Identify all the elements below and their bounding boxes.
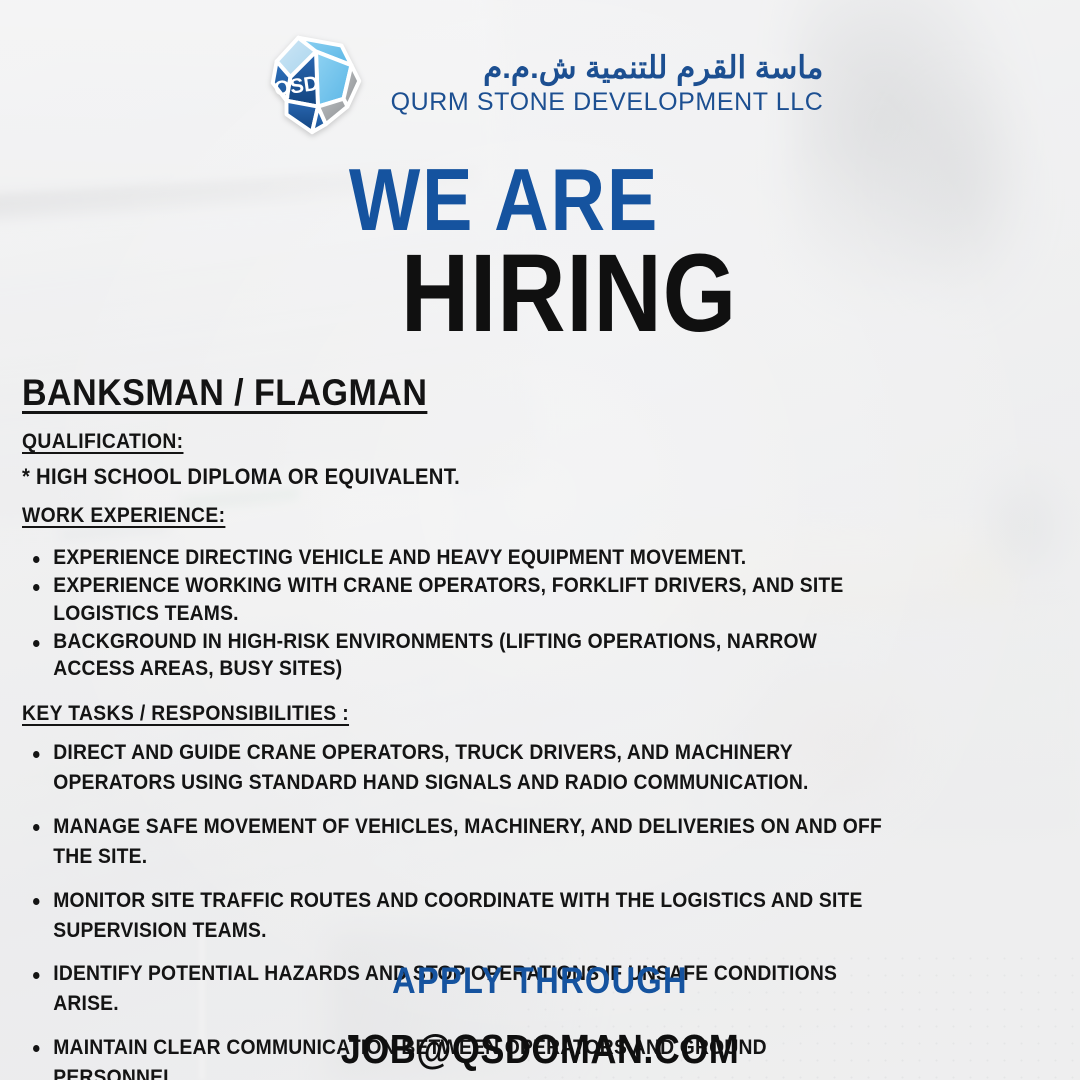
qualification-heading: QUALIFICATION: [22, 430, 892, 454]
qualification-item: * HIGH SCHOOL DIPLOMA OR EQUIVALENT. [22, 464, 892, 490]
apply-through-label: APPLY THROUGH [65, 962, 1015, 999]
headline: WE ARE HIRING [0, 160, 1080, 344]
apply-section: APPLY THROUGH JOB@QSDOMAN.COM [0, 962, 1080, 1070]
gem-logo-icon: QSD [257, 22, 375, 140]
list-item: MANAGE SAFE MOVEMENT OF VEHICLES, MACHIN… [22, 812, 892, 872]
brand-lockup: QSD ماسة القرم للتنمية ش.م.م QURM STONE … [0, 22, 1080, 140]
list-item: EXPERIENCE WORKING WITH CRANE OPERATORS,… [22, 572, 892, 627]
hiring-poster: QSD ماسة القرم للتنمية ش.م.م QURM STONE … [0, 0, 1080, 1080]
key-tasks-heading: KEY TASKS / RESPONSIBILITIES : [22, 702, 892, 726]
apply-email[interactable]: JOB@QSDOMAN.COM [65, 1029, 1015, 1070]
headline-line-we-are: WE ARE [71, 160, 938, 241]
brand-name-english: QURM STONE DEVELOPMENT LLC [391, 90, 824, 115]
list-item: MONITOR SITE TRAFFIC ROUTES AND COORDINA… [22, 886, 892, 946]
list-item: DIRECT AND GUIDE CRANE OPERATORS, TRUCK … [22, 738, 892, 798]
headline-line-hiring: HIRING [130, 243, 1009, 344]
job-title: BANKSMAN / FLAGMAN [22, 372, 892, 414]
work-experience-heading: WORK EXPERIENCE: [22, 504, 892, 528]
list-item: EXPERIENCE DIRECTING VEHICLE AND HEAVY E… [22, 544, 892, 571]
brand-name-arabic: ماسة القرم للتنمية ش.م.م [391, 52, 824, 83]
list-item: BACKGROUND IN HIGH-RISK ENVIRONMENTS (LI… [22, 628, 892, 683]
work-experience-list: EXPERIENCE DIRECTING VEHICLE AND HEAVY E… [22, 544, 968, 682]
